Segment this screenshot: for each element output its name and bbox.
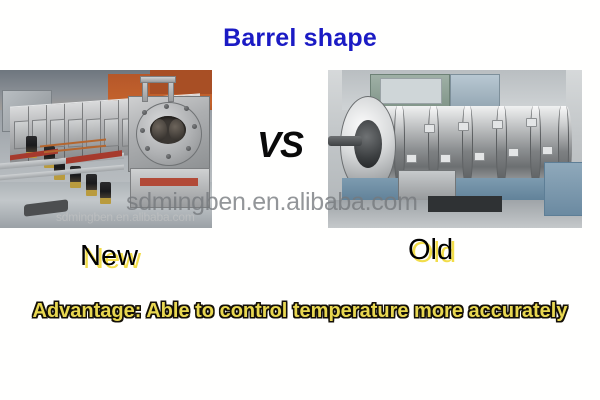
heater-terminal-block — [526, 118, 537, 127]
blue-housing — [450, 74, 500, 110]
flange-bolt — [166, 154, 171, 159]
floor-pit — [428, 196, 502, 212]
old-label: Old — [408, 234, 453, 267]
heater-terminal-block — [458, 122, 469, 131]
clamp-bar — [140, 76, 176, 83]
barrel-ring — [496, 106, 507, 182]
heater-cylinder — [26, 136, 37, 153]
screw-shaft — [328, 136, 362, 146]
flange-bolt — [142, 110, 147, 115]
flange-bolt — [184, 106, 189, 111]
base-frame — [130, 168, 210, 208]
heater-terminal-block — [440, 154, 451, 163]
page-title: Barrel shape — [0, 24, 600, 53]
barrel-ring — [462, 106, 473, 182]
flange-bolt — [192, 124, 197, 129]
heater-terminal-block — [492, 120, 503, 129]
new-label: New — [80, 240, 138, 273]
blue-frame-right — [544, 162, 582, 216]
twin-screw-bore — [150, 116, 186, 144]
heater-terminal-block — [542, 146, 553, 155]
flange-bolt — [164, 104, 169, 109]
heater-cylinder — [100, 182, 111, 199]
red-base-strip — [140, 178, 198, 186]
flange-bolt — [140, 128, 145, 133]
versus-label: VS — [238, 124, 322, 166]
heater-terminal-block — [474, 152, 485, 161]
flange-bolt — [145, 146, 150, 151]
flange-bolt — [186, 146, 191, 151]
heater-terminal-block — [508, 148, 519, 157]
new-barrel-photo: sdmingben.en.alibaba.com — [0, 70, 212, 228]
heater-terminal-block — [406, 154, 417, 163]
heater-cylinder — [86, 174, 97, 191]
heater-terminal-block — [424, 124, 435, 133]
advantage-text: Advantage: Able to control temperature m… — [0, 300, 600, 323]
machine-panel — [380, 78, 442, 104]
old-barrel-photo: sdmingben.en.alibaba.com — [328, 70, 582, 228]
